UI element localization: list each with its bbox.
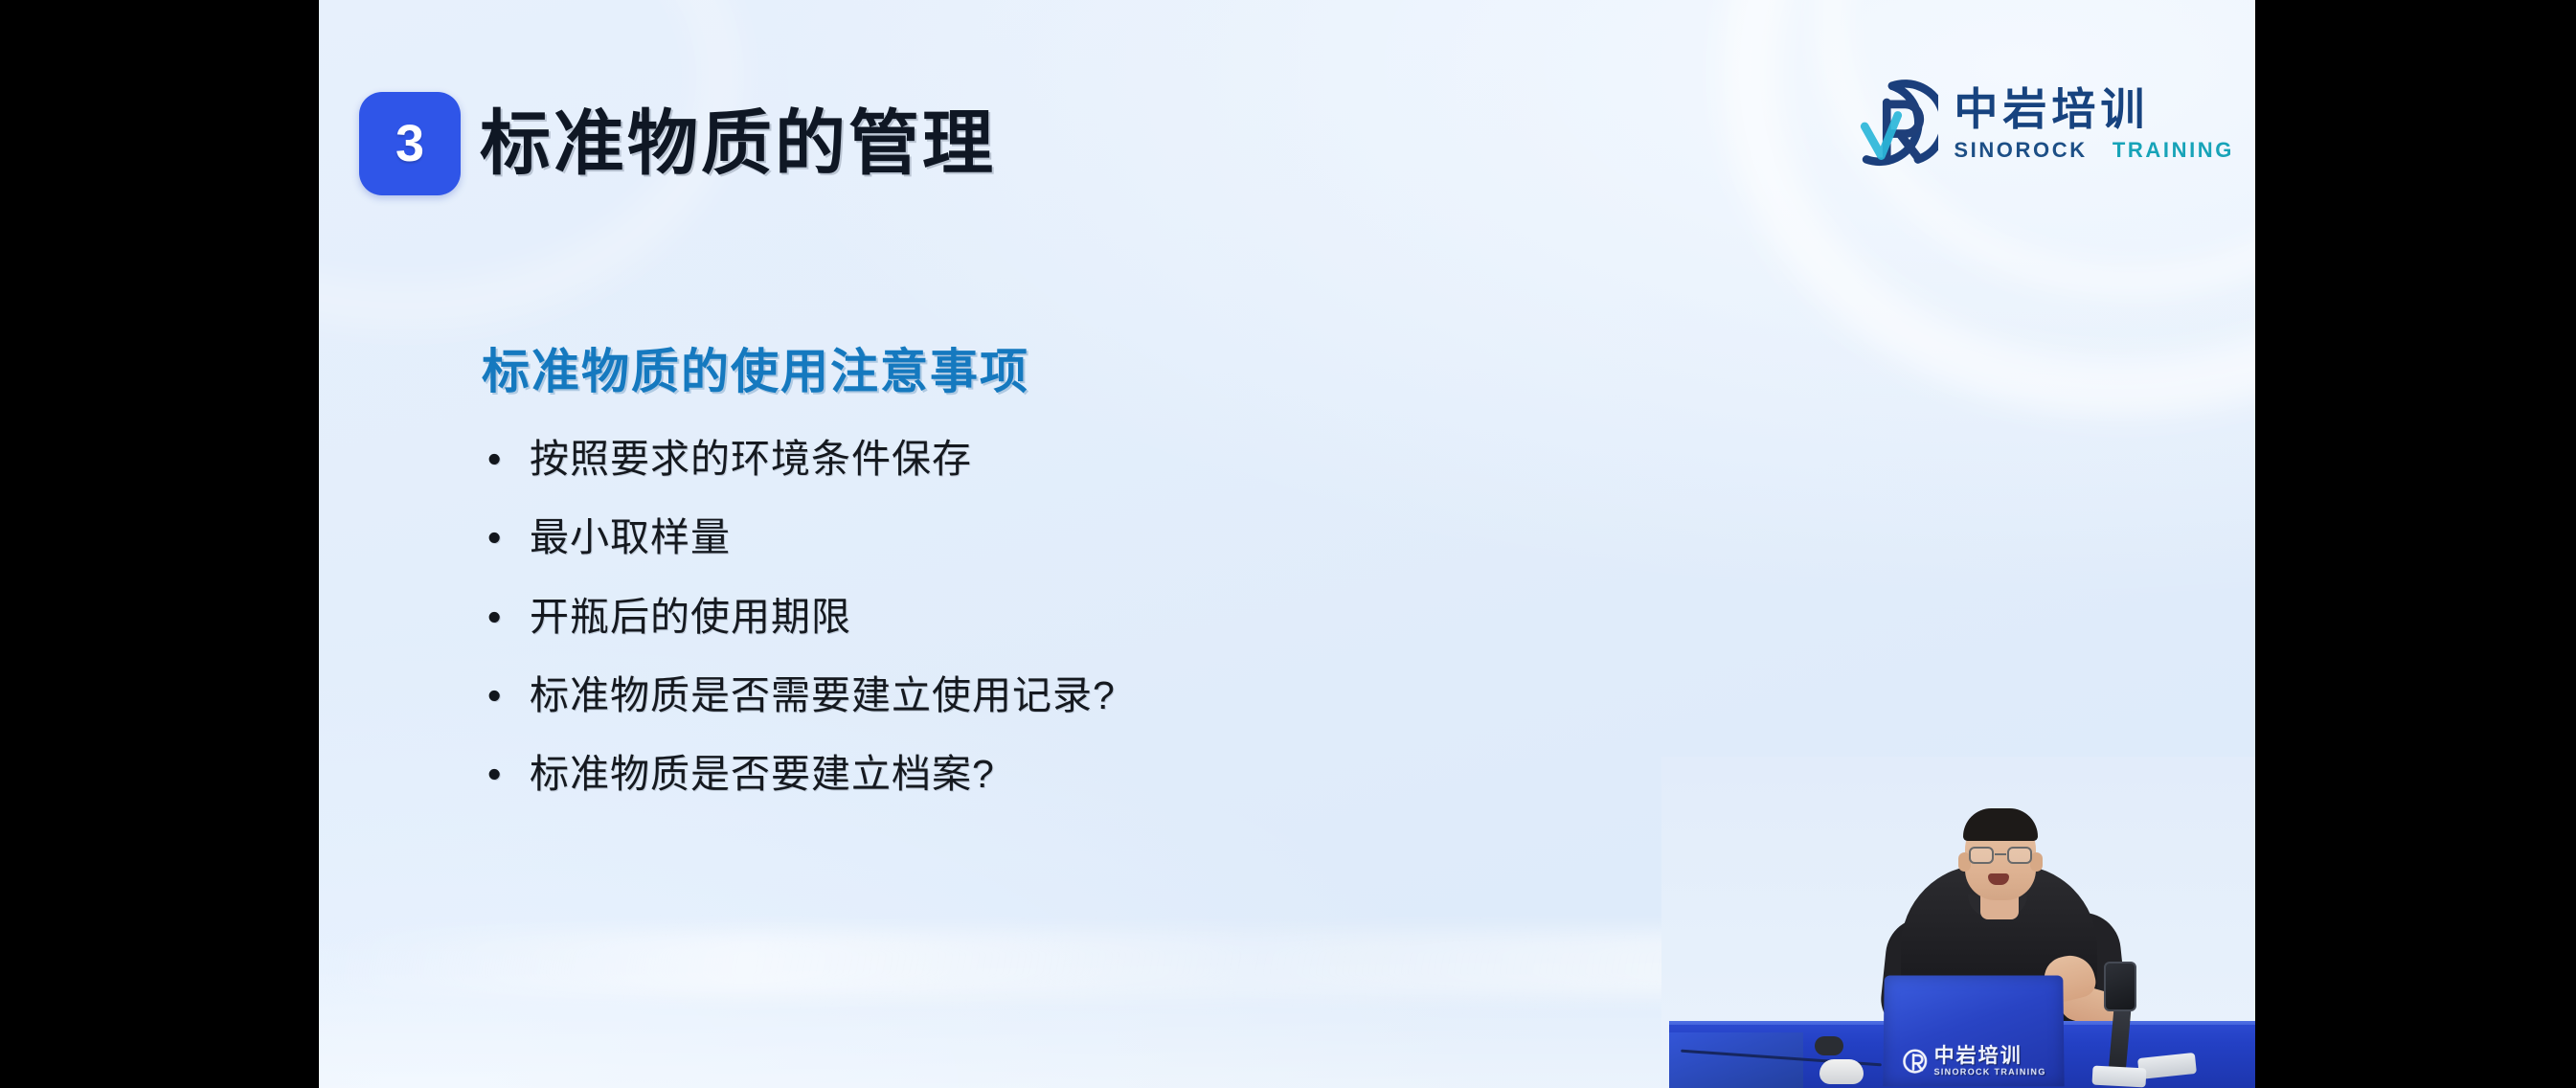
list-item-label: 按照要求的环境条件保存 bbox=[530, 435, 1918, 484]
letterbox-bar-left bbox=[0, 0, 319, 1088]
bullet-dot-icon: • bbox=[482, 435, 530, 484]
bullet-dot-icon: • bbox=[482, 593, 530, 642]
brand-logo: 中岩培训 SINOROCK TRAINING bbox=[1846, 79, 2234, 170]
section-number-label: 3 bbox=[395, 118, 424, 170]
laptop-brand-cn: 中岩培训 bbox=[1933, 1046, 2045, 1066]
screen: 3 标准物质的管理 中岩培训 SINOROCK TRAINING bbox=[0, 0, 2576, 1088]
desk-device-dark bbox=[1815, 1036, 1843, 1055]
bullet-list: • 按照要求的环境条件保存 • 最小取样量 • 开瓶后的使用期限 • 标准物质是… bbox=[482, 435, 1918, 799]
list-item: • 按照要求的环境条件保存 bbox=[482, 435, 1918, 484]
brand-name-cn: 中岩培训 bbox=[1954, 86, 2234, 133]
section-heading: 标准物质的使用注意事项 bbox=[482, 343, 1918, 400]
laptop-sinorock-monogram-icon bbox=[1901, 1048, 1928, 1075]
presenter-hair bbox=[1963, 808, 2038, 841]
computer-mouse bbox=[1819, 1059, 1864, 1084]
presentation-slide: 3 标准物质的管理 中岩培训 SINOROCK TRAINING bbox=[319, 0, 2255, 1088]
list-item-label: 标准物质是否需要建立使用记录? bbox=[530, 671, 1918, 720]
glasses-lens-left bbox=[1969, 847, 1994, 864]
desk-pad-center bbox=[2092, 1066, 2147, 1088]
glasses-lens-right bbox=[2007, 847, 2032, 864]
brand-name-en-first: SINOROCK bbox=[1954, 138, 2087, 162]
list-item: • 标准物质是否需要建立使用记录? bbox=[482, 671, 1918, 720]
page-title: 标准物质的管理 bbox=[480, 92, 996, 195]
laptop-lid: 中岩培训 SINOROCK TRAINING bbox=[1883, 975, 2064, 1086]
slide-header: 3 标准物质的管理 中岩培训 SINOROCK TRAINING bbox=[319, 0, 2255, 201]
sinorock-r-monogram-icon bbox=[1846, 79, 1938, 170]
mobile-phone bbox=[2104, 962, 2136, 1011]
presenter-mouth bbox=[1988, 873, 2009, 885]
glasses-bridge bbox=[1995, 853, 2006, 855]
presenter-glasses-icon bbox=[1968, 847, 2033, 864]
bullet-dot-icon: • bbox=[482, 513, 530, 562]
brand-logo-text: 中岩培训 SINOROCK TRAINING bbox=[1954, 86, 2234, 163]
list-item-label: 开瓶后的使用期限 bbox=[530, 593, 1918, 642]
laptop-brand-logo: 中岩培训 SINOROCK TRAINING bbox=[1883, 1046, 2064, 1077]
bullet-dot-icon: • bbox=[482, 671, 530, 720]
list-item-label: 最小取样量 bbox=[530, 513, 1918, 562]
bullet-dot-icon: • bbox=[482, 750, 530, 799]
brand-name-en-second: TRAINING bbox=[2113, 138, 2234, 162]
desk-side-panel bbox=[1669, 1032, 1803, 1088]
section-number-badge: 3 bbox=[359, 92, 461, 195]
list-item: • 最小取样量 bbox=[482, 513, 1918, 562]
brand-name-en: SINOROCK TRAINING bbox=[1954, 137, 2234, 164]
list-item: • 开瓶后的使用期限 bbox=[482, 593, 1918, 642]
laptop-brand-en: SINOROCK TRAINING bbox=[1933, 1068, 2045, 1077]
laptop-brand-text: 中岩培训 SINOROCK TRAINING bbox=[1933, 1046, 2045, 1077]
presenter-video-overlay[interactable]: 中岩培训 SINOROCK TRAINING bbox=[1661, 757, 2255, 1088]
letterbox-bar-right bbox=[2255, 0, 2576, 1088]
